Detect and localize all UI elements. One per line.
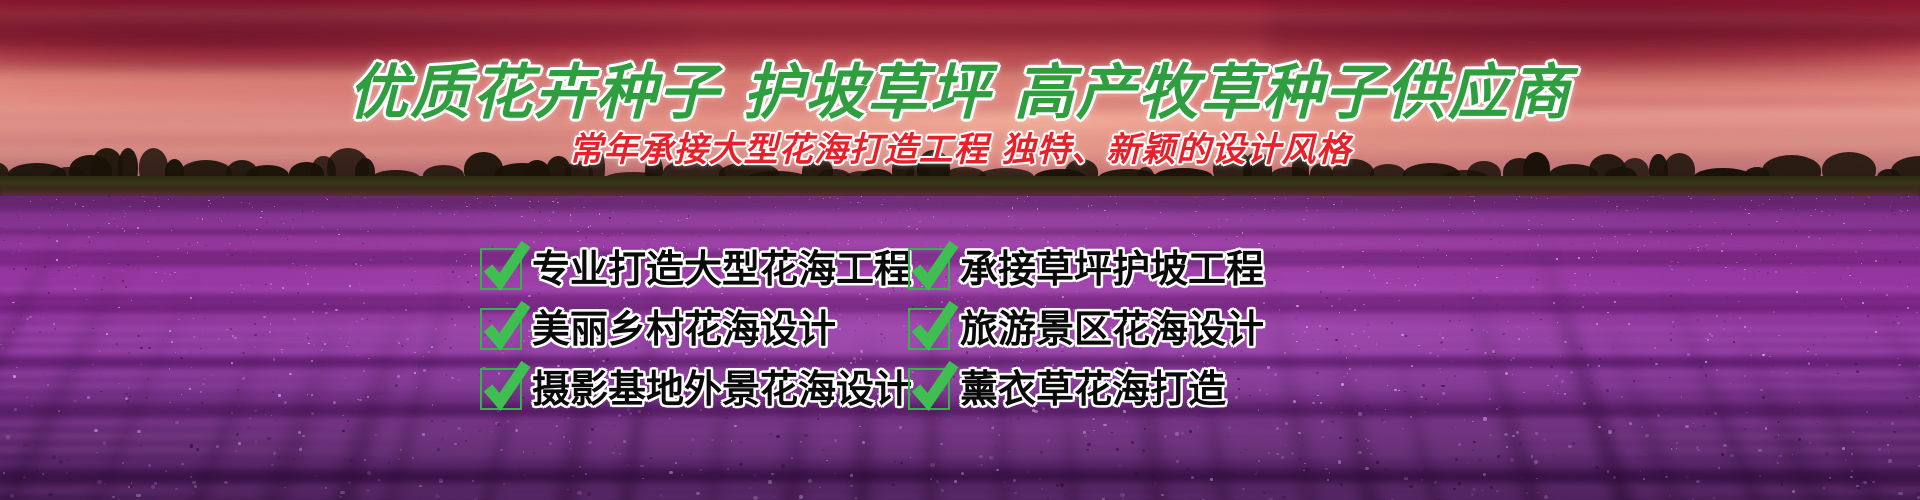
check-icon — [480, 368, 522, 410]
feature-list: 专业打造大型花海工程 承接草坪护坡工程 美丽乡村花海设计 — [480, 243, 1440, 415]
check-icon — [908, 368, 950, 410]
page-subtitle: 常年承接大型花海打造工程 独特、新颖的设计风格 — [0, 122, 1920, 171]
page-title: 优质花卉种子 护坡草坪 高产牧草种子供应商 — [0, 44, 1920, 131]
feature-item-3: 旅游景区花海设计 — [908, 303, 1440, 355]
feature-label: 旅游景区花海设计 — [960, 310, 1264, 348]
check-icon — [908, 248, 950, 290]
feature-item-5: 薰衣草花海打造 — [908, 363, 1440, 415]
feature-item-4: 摄影基地外景花海设计 — [480, 363, 890, 415]
check-icon — [480, 248, 522, 290]
text-overlay: 优质花卉种子 护坡草坪 高产牧草种子供应商 常年承接大型花海打造工程 独特、新颖… — [0, 0, 1920, 500]
promo-banner: 优质花卉种子 护坡草坪 高产牧草种子供应商 常年承接大型花海打造工程 独特、新颖… — [0, 0, 1920, 500]
feature-item-0: 专业打造大型花海工程 — [480, 243, 890, 295]
feature-label: 摄影基地外景花海设计 — [532, 370, 912, 408]
feature-label: 美丽乡村花海设计 — [532, 310, 836, 348]
feature-label: 承接草坪护坡工程 — [960, 250, 1264, 288]
feature-item-2: 美丽乡村花海设计 — [480, 303, 890, 355]
feature-item-1: 承接草坪护坡工程 — [908, 243, 1440, 295]
feature-label: 专业打造大型花海工程 — [532, 250, 912, 288]
feature-label: 薰衣草花海打造 — [960, 370, 1226, 408]
check-icon — [908, 308, 950, 350]
check-icon — [480, 308, 522, 350]
